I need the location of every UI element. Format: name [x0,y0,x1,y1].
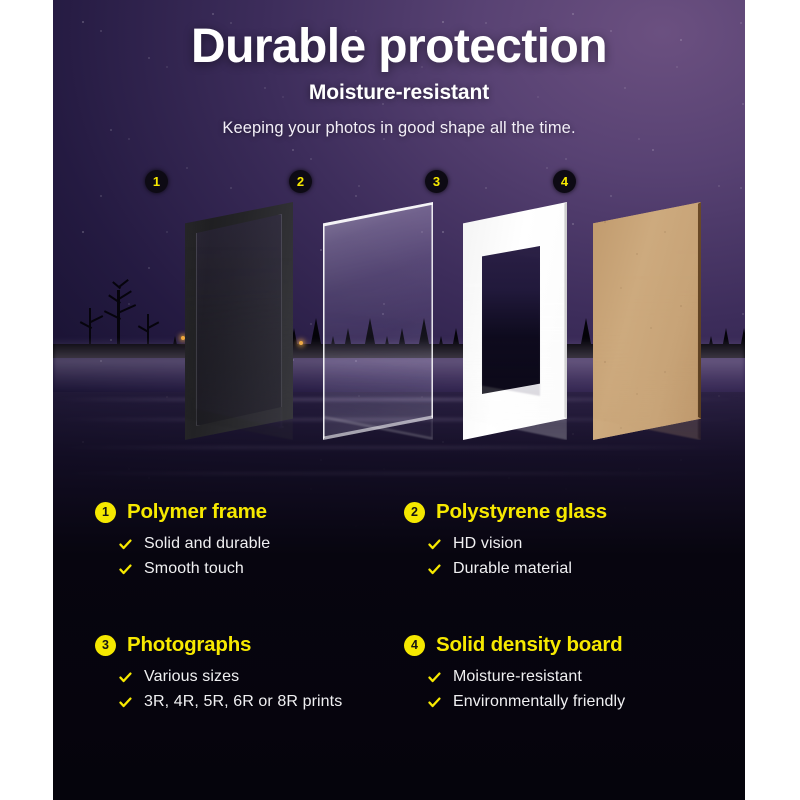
legend-feature-text: Environmentally friendly [453,693,625,711]
legend-title-2: Polystyrene glass [436,500,607,524]
page-title: Durable protection [53,22,745,72]
page-subtitle: Moisture-resistant [53,81,745,105]
legend-feature-text: Moisture-resistant [453,668,582,686]
mat-window-cutout [482,246,540,394]
legend-item-polymer-frame: 1 Polymer frame Solid and durable [95,500,394,585]
list-item: Moisture-resistant [428,668,703,686]
legend-feature-text: Smooth touch [144,560,244,578]
list-item: 3R, 4R, 5R, 6R or 8R prints [119,693,394,711]
check-icon [119,696,132,709]
list-item: Various sizes [119,668,394,686]
density-board-panel [593,202,701,440]
legend-badge-1: 1 [95,502,116,523]
exploded-diagram: 1 2 [53,170,745,490]
legend-feature-text: HD vision [453,535,522,553]
diagram-badge-3: 3 [425,170,448,193]
feature-legend: 1 Polymer frame Solid and durable [53,500,745,718]
list-item: HD vision [428,535,703,553]
header-block: Durable protection Moisture-resistant Ke… [53,22,745,138]
list-item: Smooth touch [119,560,394,578]
legend-badge-3: 3 [95,635,116,656]
diagram-badge-1: 1 [145,170,168,193]
list-item: Solid and durable [119,535,394,553]
legend-badge-2: 2 [404,502,425,523]
check-icon [119,671,132,684]
legend-title-4: Solid density board [436,633,622,657]
legend-feature-text: Solid and durable [144,535,270,553]
check-icon [119,563,132,576]
product-infographic: Durable protection Moisture-resistant Ke… [0,0,800,800]
frame-inner-lip [196,214,282,426]
check-icon [428,671,441,684]
list-item: Durable material [428,560,703,578]
legend-feature-text: Various sizes [144,668,239,686]
artwork-canvas: Durable protection Moisture-resistant Ke… [53,0,745,800]
legend-heading: 1 Polymer frame [95,500,394,524]
check-icon [428,538,441,551]
legend-heading: 2 Polystyrene glass [404,500,703,524]
check-icon [119,538,132,551]
diagram-badge-2: 2 [289,170,312,193]
legend-feature-list-1: Solid and durable Smooth touch [95,535,394,578]
legend-title-3: Photographs [127,633,251,657]
legend-title-1: Polymer frame [127,500,267,524]
legend-item-solid-density-board: 4 Solid density board Moisture-resistant [404,633,703,718]
list-item: Environmentally friendly [428,693,703,711]
legend-feature-text: 3R, 4R, 5R, 6R or 8R prints [144,693,342,711]
diagram-badge-4: 4 [553,170,576,193]
legend-heading: 3 Photographs [95,633,394,657]
legend-item-photographs: 3 Photographs Various sizes [95,633,394,718]
legend-heading: 4 Solid density board [404,633,703,657]
page-tagline: Keeping your photos in good shape all th… [53,119,745,138]
legend-badge-4: 4 [404,635,425,656]
legend-feature-list-4: Moisture-resistant Environmentally frien… [404,668,703,711]
legend-feature-text: Durable material [453,560,572,578]
legend-feature-list-2: HD vision Durable material [404,535,703,578]
check-icon [428,696,441,709]
legend-item-polystyrene-glass: 2 Polystyrene glass HD vision [404,500,703,585]
check-icon [428,563,441,576]
legend-feature-list-3: Various sizes 3R, 4R, 5R, 6R or 8R print… [95,668,394,711]
glass-panel [323,202,433,440]
